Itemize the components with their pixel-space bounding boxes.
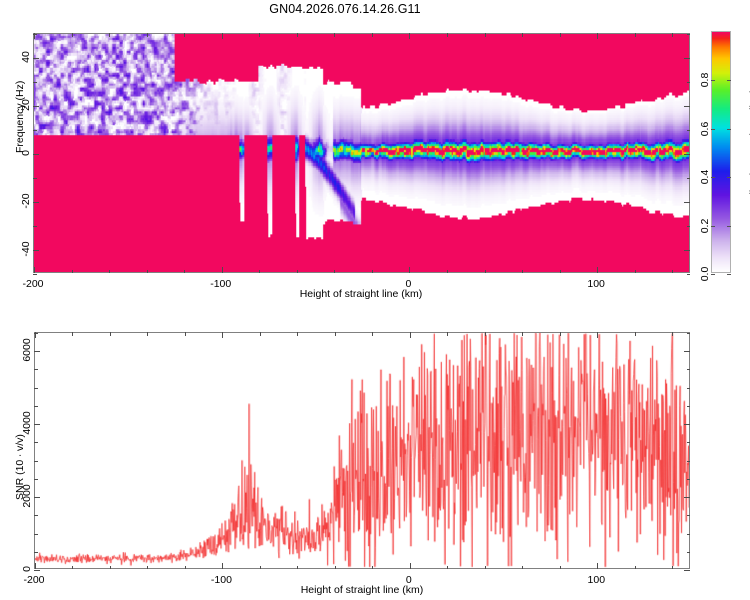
- ytick-minor-right: [687, 369, 691, 370]
- ytick-minor: [34, 461, 38, 462]
- snr-xaxis-label: Height of straight line (km): [301, 584, 424, 596]
- xticklabel: -200: [22, 278, 43, 290]
- xtick-minor-top: [147, 33, 148, 37]
- xtick-minor-top: [447, 33, 448, 37]
- ytick-minor: [34, 369, 38, 370]
- xtick-minor-top: [260, 332, 261, 336]
- xtick-minor-top: [184, 33, 185, 37]
- ytick-minor: [34, 424, 40, 425]
- xtick-minor: [560, 270, 561, 274]
- ytick-minor-right: [684, 106, 690, 107]
- spectrogram-xaxis-label: Height of straight line (km): [300, 288, 423, 300]
- colorbar-tick: [711, 129, 715, 130]
- ytick-minor-right: [684, 154, 690, 155]
- ytick-minor-right: [687, 34, 691, 35]
- ytick-minor-right: [687, 442, 691, 443]
- ytick-minor-right: [687, 388, 691, 389]
- colorbar-tick: [711, 80, 715, 81]
- ytick-minor-right: [687, 178, 691, 179]
- ytick-minor: [33, 130, 37, 131]
- ytick-minor: [33, 106, 39, 107]
- ytick-minor: [34, 497, 40, 498]
- ytick-minor-right: [684, 202, 690, 203]
- ytick-minor-right: [684, 250, 690, 251]
- ytick-minor: [33, 178, 37, 179]
- ytick-minor: [34, 333, 38, 334]
- ytick-minor-right: [687, 515, 691, 516]
- ytick-minor: [33, 250, 39, 251]
- xtick-minor: [259, 270, 260, 274]
- ytick-minor: [33, 34, 37, 35]
- xtick-minor-top: [110, 332, 111, 336]
- xtick-minor: [335, 566, 336, 570]
- xticklabel: -100: [210, 278, 231, 290]
- xtick-minor-top: [447, 332, 448, 336]
- xtick-minor: [184, 270, 185, 274]
- ytick-minor-right: [687, 552, 691, 553]
- xtick-minor: [147, 270, 148, 274]
- ytick-minor-right: [687, 274, 691, 275]
- ytick-minor: [34, 406, 38, 407]
- xtick-minor: [635, 566, 636, 570]
- xtick-minor-top: [485, 332, 486, 336]
- colorbar-tick: [711, 226, 715, 227]
- xtick-minor: [297, 270, 298, 274]
- snr-axes: [34, 332, 690, 569]
- ytick-minor: [34, 515, 38, 516]
- colorbar-tick-right: [727, 177, 731, 178]
- xtick-minor: [334, 270, 335, 274]
- figure-root: GN04.2026.076.14.26.G11 -200-1000100-40-…: [0, 0, 750, 600]
- xtick-minor-top: [635, 332, 636, 336]
- xtick-minor: [522, 270, 523, 274]
- xtick-minor: [597, 563, 598, 569]
- ytick-minor: [34, 388, 38, 389]
- ytick-minor-right: [687, 226, 691, 227]
- xtick-minor: [372, 270, 373, 274]
- ytick-minor-right: [687, 461, 691, 462]
- xtick-minor-top: [222, 33, 223, 39]
- ytick-minor: [33, 82, 37, 83]
- colorbar-tick-right: [727, 129, 731, 130]
- colorbar-tick: [711, 177, 715, 178]
- xticklabel: -200: [23, 574, 44, 586]
- xtick-minor-top: [522, 33, 523, 37]
- xtick-minor: [485, 566, 486, 570]
- spectrogram-axes: [33, 33, 690, 273]
- xtick-minor-top: [222, 332, 223, 338]
- xtick-minor-top: [522, 332, 523, 336]
- xticklabel: 100: [587, 278, 605, 290]
- xtick-minor-top: [560, 332, 561, 336]
- ytick-minor: [33, 274, 37, 275]
- xtick-minor: [109, 270, 110, 274]
- xtick-minor: [447, 566, 448, 570]
- xtick-minor: [72, 566, 73, 570]
- ytick-minor-right: [687, 479, 691, 480]
- xticklabel: 100: [588, 574, 606, 586]
- ytick-minor: [34, 570, 40, 571]
- xtick-minor: [222, 563, 223, 569]
- xtick-minor-top: [672, 33, 673, 37]
- xtick-minor: [522, 566, 523, 570]
- xtick-minor-top: [297, 33, 298, 37]
- snr-yaxis-label: SNR (10 ∙ v/v): [14, 434, 26, 500]
- ytick-minor: [34, 552, 38, 553]
- xtick-minor: [35, 563, 36, 569]
- spectrogram-image: [34, 34, 689, 272]
- ytick-minor: [33, 154, 39, 155]
- xtick-minor: [72, 270, 73, 274]
- spectrogram-yaxis-label: Frequency (Hz): [14, 81, 26, 153]
- xtick-minor-top: [635, 33, 636, 37]
- xtick-minor: [409, 267, 410, 273]
- xtick-minor-top: [372, 332, 373, 336]
- ytick-minor: [34, 442, 38, 443]
- ytick-minor-right: [687, 406, 691, 407]
- xtick-minor-top: [672, 332, 673, 336]
- xtick-minor: [672, 566, 673, 570]
- xtick-minor: [410, 563, 411, 569]
- xtick-minor-top: [372, 33, 373, 37]
- xtick-minor: [372, 566, 373, 570]
- xtick-minor: [297, 566, 298, 570]
- ytick-minor-right: [687, 333, 691, 334]
- ytick-minor-right: [687, 130, 691, 131]
- xtick-minor: [185, 566, 186, 570]
- ytick-minor: [33, 226, 37, 227]
- colorbar-tick-right: [727, 226, 731, 227]
- xtick-minor: [560, 566, 561, 570]
- xtick-minor: [635, 270, 636, 274]
- ytick-minor-right: [684, 497, 690, 498]
- snr-trace: [35, 333, 689, 568]
- colorbar-tick-right: [727, 80, 731, 81]
- ytick-minor: [33, 202, 39, 203]
- xtick-minor-top: [409, 33, 410, 39]
- xtick-minor: [147, 566, 148, 570]
- ytick-minor: [33, 58, 39, 59]
- xtick-minor: [222, 267, 223, 273]
- xtick-minor: [597, 267, 598, 273]
- xtick-minor: [485, 270, 486, 274]
- colorbar-tick-right: [727, 274, 731, 275]
- xtick-minor: [260, 566, 261, 570]
- xtick-minor-top: [410, 332, 411, 338]
- ytick-minor: [34, 351, 40, 352]
- xtick-minor-top: [335, 332, 336, 336]
- xtick-minor-top: [334, 33, 335, 37]
- xtick-minor-top: [297, 332, 298, 336]
- xtick-minor-top: [72, 332, 73, 336]
- xtick-minor-top: [147, 332, 148, 336]
- xtick-minor: [34, 267, 35, 273]
- ytick-minor-right: [687, 534, 691, 535]
- ytick-minor-right: [687, 82, 691, 83]
- xtick-minor-top: [485, 33, 486, 37]
- xtick-minor-top: [72, 33, 73, 37]
- ytick-minor: [34, 534, 38, 535]
- xtick-minor: [672, 270, 673, 274]
- xticklabel: -100: [211, 574, 232, 586]
- xtick-minor: [110, 566, 111, 570]
- xtick-minor: [447, 270, 448, 274]
- xtick-minor-top: [259, 33, 260, 37]
- ytick-minor-right: [684, 58, 690, 59]
- ytick-minor-right: [684, 351, 690, 352]
- ytick-minor-right: [684, 424, 690, 425]
- xtick-minor-top: [109, 33, 110, 37]
- xtick-minor-top: [597, 332, 598, 338]
- xtick-minor-top: [185, 332, 186, 336]
- colorbar: [711, 31, 731, 273]
- xtick-minor-top: [560, 33, 561, 37]
- colorbar-gradient: [712, 32, 730, 272]
- xtick-minor-top: [597, 33, 598, 39]
- ytick-minor-right: [684, 570, 690, 571]
- colorbar-tick: [711, 274, 715, 275]
- ytick-minor: [34, 479, 38, 480]
- figure-title: GN04.2026.076.14.26.G11: [0, 2, 690, 16]
